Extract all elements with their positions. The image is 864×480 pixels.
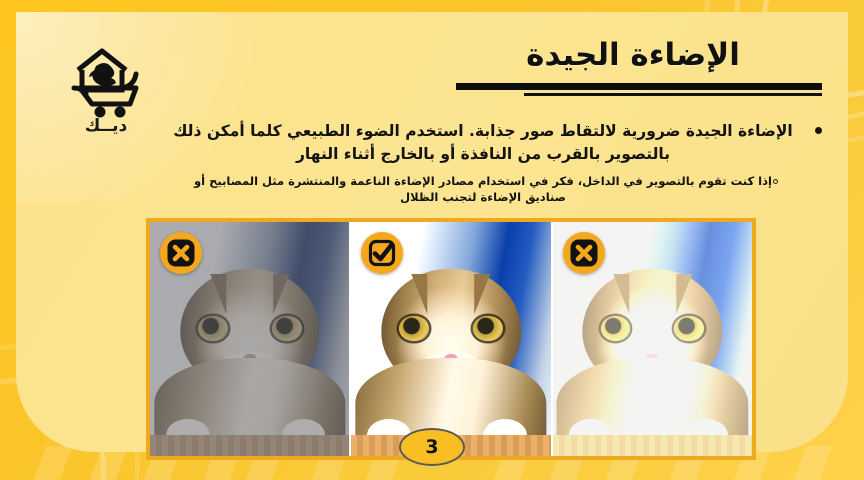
house-cart-rooster-icon — [58, 42, 154, 120]
title-rule-thin — [524, 93, 822, 96]
bullet-circle-icon — [773, 179, 778, 184]
bullet-item-main: الإضاءة الجيدة ضرورية لالتقاط صور جذابة.… — [162, 120, 822, 167]
check-mark-badge-icon — [361, 232, 403, 274]
x-mark-badge-icon — [563, 232, 605, 274]
brand-logo: ديــك — [58, 42, 154, 142]
body-content: الإضاءة الجيدة ضرورية لالتقاط صور جذابة.… — [162, 120, 822, 206]
slide-canvas: ديــك الإضاءة الجيدة الإضاءة الجيدة ضرور… — [0, 0, 864, 480]
photo-well-lit[interactable] — [349, 222, 550, 456]
bullet-item-sub: إذا كنت تقوم بالتصوير في الداخل، فكر في … — [162, 173, 822, 206]
title-rule-thick — [456, 83, 822, 90]
brand-wordmark: ديــك — [58, 116, 154, 136]
x-mark-badge-icon — [160, 232, 202, 274]
bullet-text-sub: إذا كنت تقوم بالتصوير في الداخل، فكر في … — [162, 173, 822, 206]
bullet-text-main: الإضاءة الجيدة ضرورية لالتقاط صور جذابة.… — [162, 120, 822, 167]
slide-panel: ديــك الإضاءة الجيدة الإضاءة الجيدة ضرور… — [16, 12, 848, 452]
bullet-dot-icon — [815, 127, 822, 134]
page-number-badge: 3 — [399, 428, 465, 466]
photo-underexposed[interactable] — [150, 222, 349, 456]
photo-comparison-strip — [146, 218, 756, 460]
page-title: الإضاءة الجيدة — [444, 38, 822, 74]
photo-overexposed[interactable] — [551, 222, 752, 456]
title-block: الإضاءة الجيدة — [444, 38, 822, 96]
